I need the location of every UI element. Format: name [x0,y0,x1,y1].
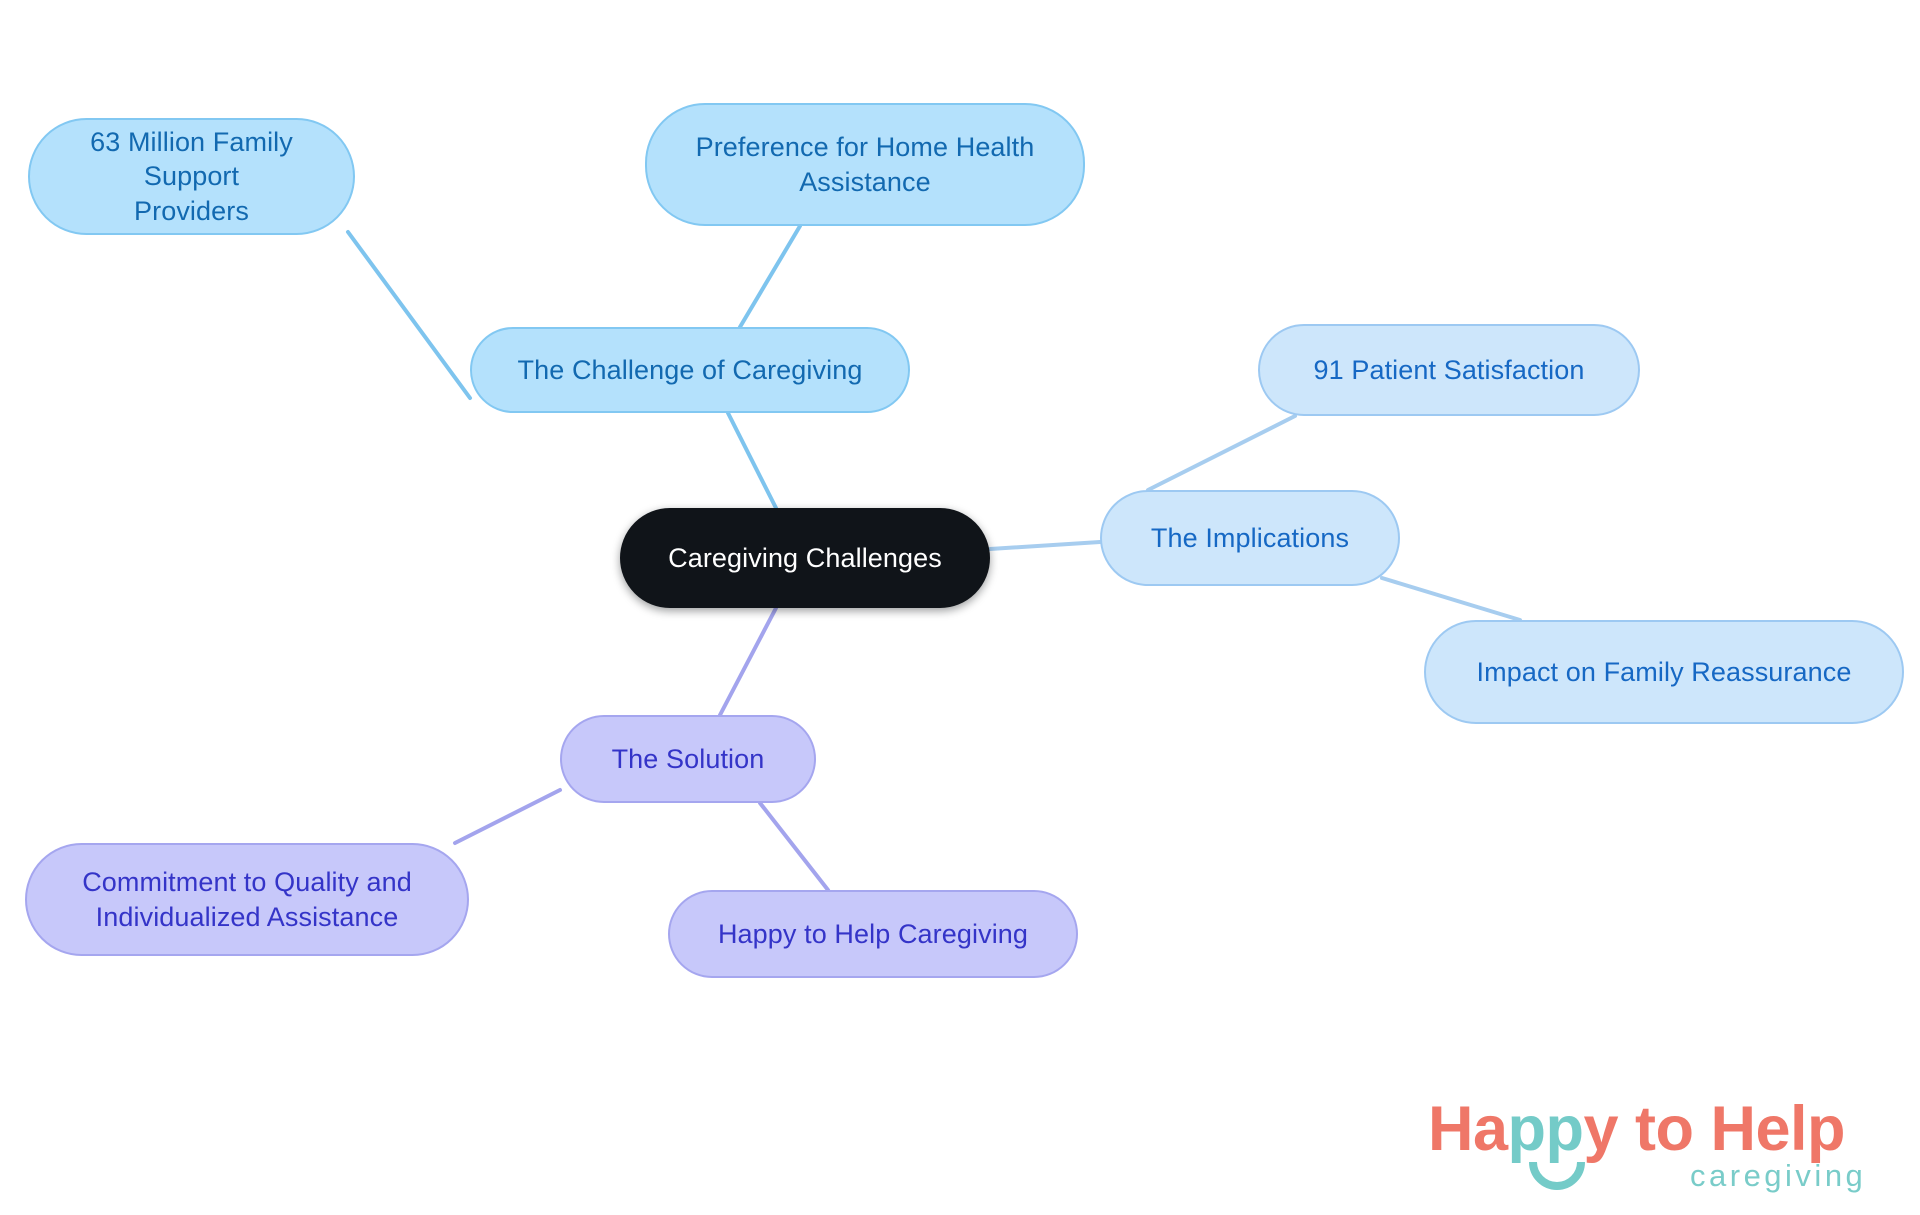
node-the-challenge-of-caregiving[interactable]: The Challenge of Caregiving [470,327,910,413]
logo-text-pp: pp [1508,1094,1584,1164]
brand-logo: Happy to Help caregiving [1428,1098,1898,1210]
node-63-million-family-support-providers[interactable]: 63 Million Family Support Providers [28,118,355,235]
node-happy-to-help-caregiving[interactable]: Happy to Help Caregiving [668,890,1078,978]
node-root-caregiving-challenges[interactable]: Caregiving Challenges [620,508,990,608]
node-91-patient-satisfaction[interactable]: 91 Patient Satisfaction [1258,324,1640,416]
edge-solution-to-commitment [455,790,560,843]
node-preference-for-home-health-assistance[interactable]: Preference for Home Health Assistance [645,103,1085,226]
edge-implications-to-impact [1382,578,1520,620]
edge-root-to-solution [720,608,776,715]
node-commitment-to-quality-and-individualized-assistance[interactable]: Commitment to Quality and Individualized… [25,843,469,956]
logo-wordmark: Happy to Help [1428,1098,1845,1161]
node-the-implications[interactable]: The Implications [1100,490,1400,586]
node-the-solution[interactable]: The Solution [560,715,816,803]
logo-subtitle: caregiving [1690,1160,1866,1191]
edge-implications-to-satisfaction [1148,416,1295,490]
edge-challenge-to-preference [740,226,800,327]
edge-challenge-to-63million [348,232,470,398]
smile-arc-icon [1528,1160,1586,1194]
edge-solution-to-happy [760,803,828,890]
logo-text-y-to-help: y to Help [1584,1094,1846,1164]
logo-text-ha: Ha [1428,1094,1508,1164]
mindmap-canvas: 63 Million Family Support Providers Pref… [0,0,1920,1215]
edge-root-to-challenge [728,413,776,508]
node-impact-on-family-reassurance[interactable]: Impact on Family Reassurance [1424,620,1904,724]
edge-root-to-implications [990,542,1100,549]
